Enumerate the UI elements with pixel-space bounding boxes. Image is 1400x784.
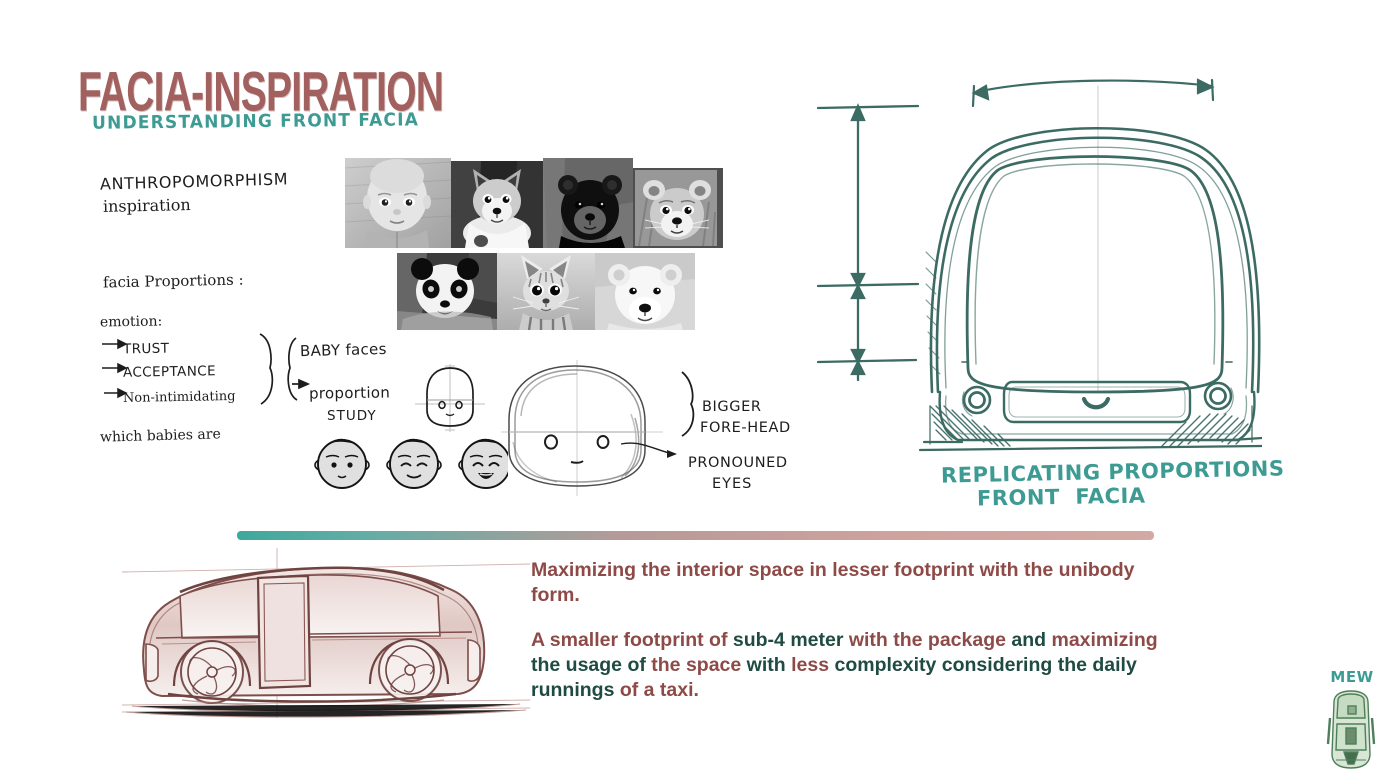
bear-cub-photo bbox=[543, 158, 633, 248]
body-text-run: complexity bbox=[834, 654, 941, 676]
body-copy: Maximizing the interior space in lesser … bbox=[531, 558, 1181, 703]
note-forehead: FORE-HEAD bbox=[700, 419, 791, 437]
body-text-run: A smaller footprint of bbox=[531, 629, 733, 651]
width-dimension-arrow bbox=[973, 80, 1213, 106]
kitten-photo bbox=[497, 253, 595, 330]
body-paragraph-1: Maximizing the interior space in lesser … bbox=[531, 558, 1181, 608]
body-text-run: of a taxi. bbox=[620, 679, 699, 701]
fox-kit-photo bbox=[451, 161, 543, 248]
baby-face-smiling bbox=[387, 439, 441, 488]
polar-bear-cub-photo bbox=[595, 253, 695, 330]
note-pronounced: PRONOUNED bbox=[688, 454, 788, 472]
note-inspiration: inspiration bbox=[103, 195, 191, 217]
forehead-bracket bbox=[678, 370, 708, 438]
lion-cub-photo bbox=[633, 168, 723, 248]
body-text-run: less bbox=[791, 654, 834, 676]
facia-caption-line2: FRONT FACIA bbox=[977, 484, 1146, 511]
note-anthropomorphism: ANTHROPOMORPHISM bbox=[100, 169, 289, 194]
panda-cub-photo bbox=[397, 253, 497, 330]
body-text-run: the usage of bbox=[531, 654, 651, 676]
facia-caption-line1: REPLICATING PROPORTIONS bbox=[941, 456, 1285, 487]
body-text-run: space bbox=[686, 654, 747, 676]
taxi-side-profile-sketch bbox=[122, 540, 532, 750]
proportion-study-head-small bbox=[415, 364, 485, 432]
body-text-run: meter bbox=[790, 629, 849, 651]
body-text-run: with the package bbox=[849, 629, 1012, 651]
front-facia-sketch bbox=[812, 62, 1262, 452]
logo-vehicle-icon bbox=[1324, 688, 1378, 772]
smile-curve bbox=[1084, 399, 1108, 407]
note-bigger: BIGGER bbox=[702, 398, 762, 416]
baby-face-icons bbox=[293, 435, 508, 498]
note-facia-proportions: facia Proportions : bbox=[103, 271, 244, 293]
baby-face-neutral bbox=[315, 439, 369, 488]
body-text-run: and bbox=[1011, 629, 1051, 651]
body-paragraph-2: A smaller footprint of sub-4 meter with … bbox=[531, 628, 1181, 703]
body-text-run: the bbox=[651, 654, 686, 676]
left-headlight bbox=[962, 387, 990, 416]
page-subtitle: UNDERSTANDING FRONT FACIA bbox=[92, 110, 419, 134]
right-headlight bbox=[1205, 383, 1233, 414]
body-text-run: sub-4 bbox=[733, 629, 790, 651]
baby-photo bbox=[345, 158, 451, 248]
body-text-run: with bbox=[747, 654, 791, 676]
grille-panel bbox=[1004, 382, 1190, 422]
note-eyes: EYES bbox=[712, 475, 752, 493]
height-dimension-arrow bbox=[818, 106, 918, 380]
section-divider bbox=[237, 531, 1154, 540]
presentation-slide: FACIA-INSPIRATION UNDERSTANDING FRONT FA… bbox=[0, 0, 1400, 784]
body-text-run: maximizing bbox=[1051, 629, 1157, 651]
note-connector-arrows bbox=[100, 330, 400, 450]
brand-logo: MEW bbox=[1316, 668, 1386, 772]
proportion-study-head-large bbox=[495, 358, 700, 498]
logo-wordmark: MEW bbox=[1322, 668, 1382, 686]
